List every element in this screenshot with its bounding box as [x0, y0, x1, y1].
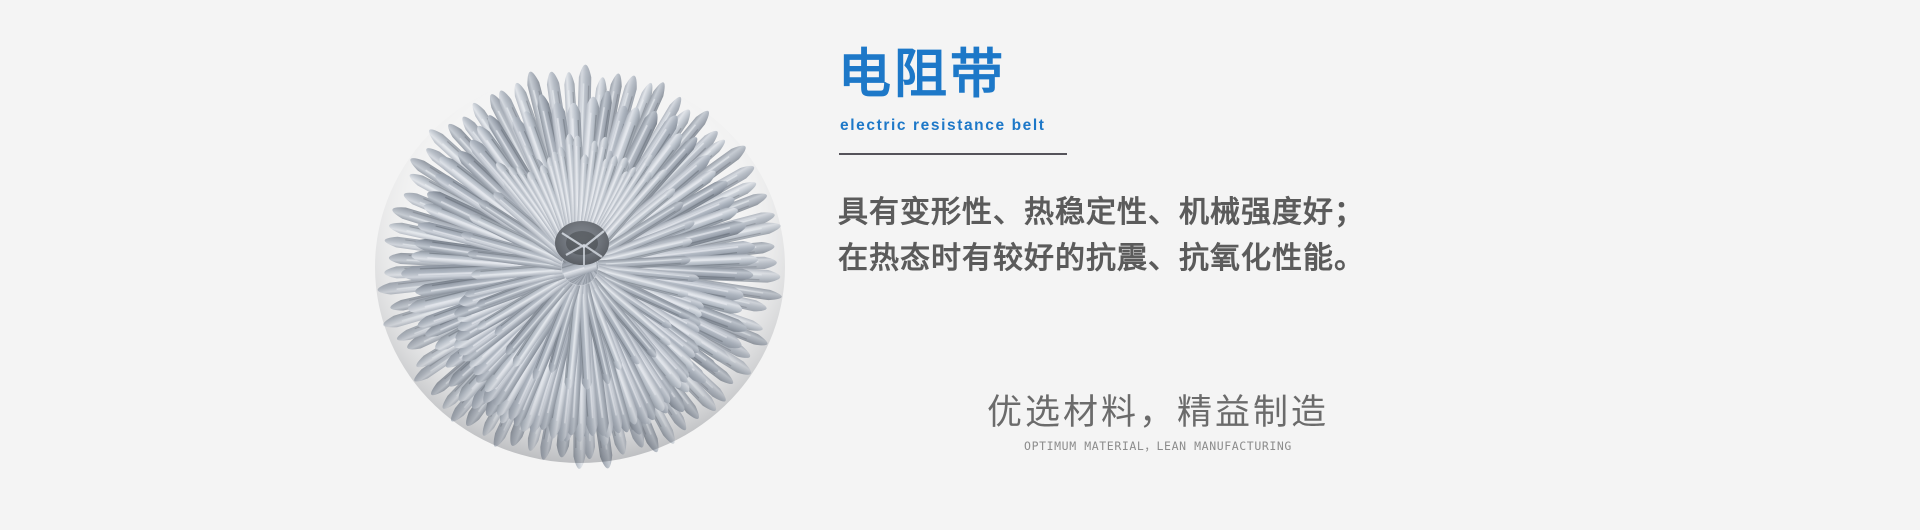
title-divider: [839, 153, 1067, 155]
description-line: 具有变形性、热稳定性、机械强度好；: [838, 190, 1538, 236]
description-block: 具有变形性、热稳定性、机械强度好； 在热态时有较好的抗震、抗氧化性能。: [838, 190, 1538, 282]
slogan-main: 优选材料，精益制造: [838, 392, 1478, 434]
page-title: 电阻带: [838, 46, 1478, 104]
product-image: [300, 35, 860, 495]
slogan-block: 优选材料，精益制造 OPTIMUM MATERIAL，LEAN MANUFACT…: [838, 392, 1478, 454]
product-banner: 电阻带 electric resistance belt 具有变形性、热稳定性、…: [0, 0, 1920, 530]
slogan-sub: OPTIMUM MATERIAL，LEAN MANUFACTURING: [838, 438, 1478, 454]
title-block: 电阻带 electric resistance belt: [838, 46, 1478, 155]
description-line: 在热态时有较好的抗震、抗氧化性能。: [838, 236, 1538, 282]
text-column: 电阻带 electric resistance belt 具有变形性、热稳定性、…: [838, 0, 1838, 530]
page-subtitle: electric resistance belt: [840, 116, 1478, 136]
